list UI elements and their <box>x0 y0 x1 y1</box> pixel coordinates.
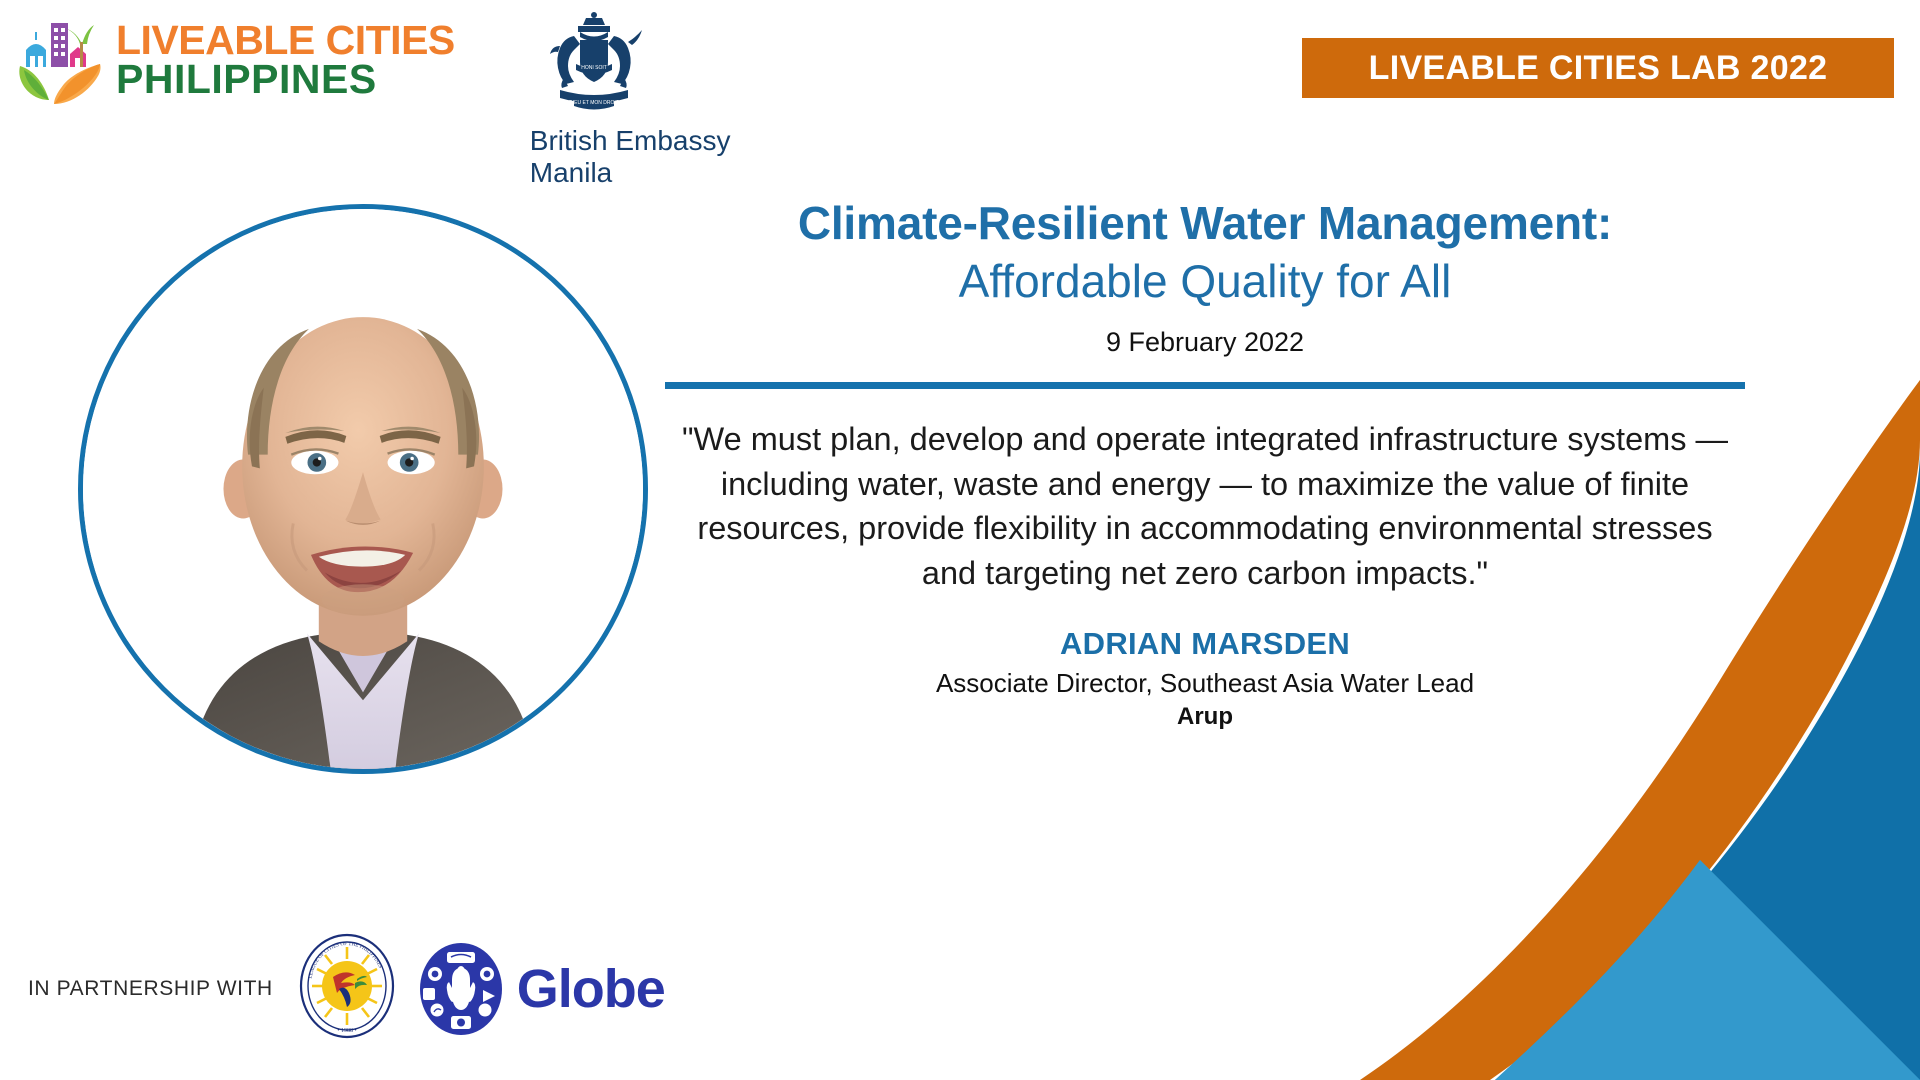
embassy-line1: British Embassy <box>530 125 731 157</box>
partnership-bar: IN PARTNERSHIP WITH <box>28 933 665 1044</box>
light-blue-triangle-shape <box>1495 860 1920 1080</box>
liveable-cities-philippines-logo: LIVEABLE CITIES PHILIPPINES <box>14 14 455 106</box>
quote-text: "We must plan, develop and operate integ… <box>660 417 1750 595</box>
globe-telecom-icon <box>417 942 505 1036</box>
lcp-line2: PHILIPPINES <box>116 60 455 99</box>
globe-logo: Globe <box>417 942 665 1036</box>
title-divider <box>665 382 1745 389</box>
talk-title-main: Climate-Resilient Water Management: <box>660 196 1750 250</box>
british-embassy-wordmark: British Embassy Manila <box>530 125 731 189</box>
content-column: Climate-Resilient Water Management: Affo… <box>660 196 1750 731</box>
logo-bar: LIVEABLE CITIES PHILIPPINES <box>0 0 730 189</box>
lcp-seal-logo: LEAGUE OF CITIES OF THE PHILIPPINES • 19… <box>299 933 395 1044</box>
embassy-line2: Manila <box>530 157 731 189</box>
lcp-seal-icon: LEAGUE OF CITIES OF THE PHILIPPINES • 19… <box>299 933 395 1039</box>
event-banner: LIVEABLE CITIES LAB 2022 <box>1302 38 1894 98</box>
svg-text:• 1988 •: • 1988 • <box>337 1028 356 1034</box>
talk-date: 9 February 2022 <box>660 327 1750 358</box>
liveable-cities-wordmark: LIVEABLE CITIES PHILIPPINES <box>116 21 455 99</box>
svg-text:HONI SOIT: HONI SOIT <box>581 65 607 71</box>
lcp-line1: LIVEABLE CITIES <box>116 21 455 60</box>
talk-title-sub: Affordable Quality for All <box>660 254 1750 309</box>
speaker-portrait <box>78 204 648 774</box>
globe-wordmark: Globe <box>517 958 665 1020</box>
speaker-role: Associate Director, Southeast Asia Water… <box>660 668 1750 699</box>
speaker-headshot-image <box>83 209 643 769</box>
partnership-label: IN PARTNERSHIP WITH <box>28 977 273 1001</box>
british-embassy-logo: HONI SOIT DIEU ET MON DROIT British Emba… <box>530 12 731 189</box>
speaker-organization: Arup <box>660 703 1750 731</box>
light-blue-wedge-shape <box>1495 860 1920 1080</box>
svg-text:DIEU ET MON DROIT: DIEU ET MON DROIT <box>569 100 619 106</box>
speaker-name: ADRIAN MARSDEN <box>660 626 1750 662</box>
city-hand-leaf-icon <box>14 14 106 106</box>
royal-coat-of-arms-icon: HONI SOIT DIEU ET MON DROIT <box>530 12 658 116</box>
